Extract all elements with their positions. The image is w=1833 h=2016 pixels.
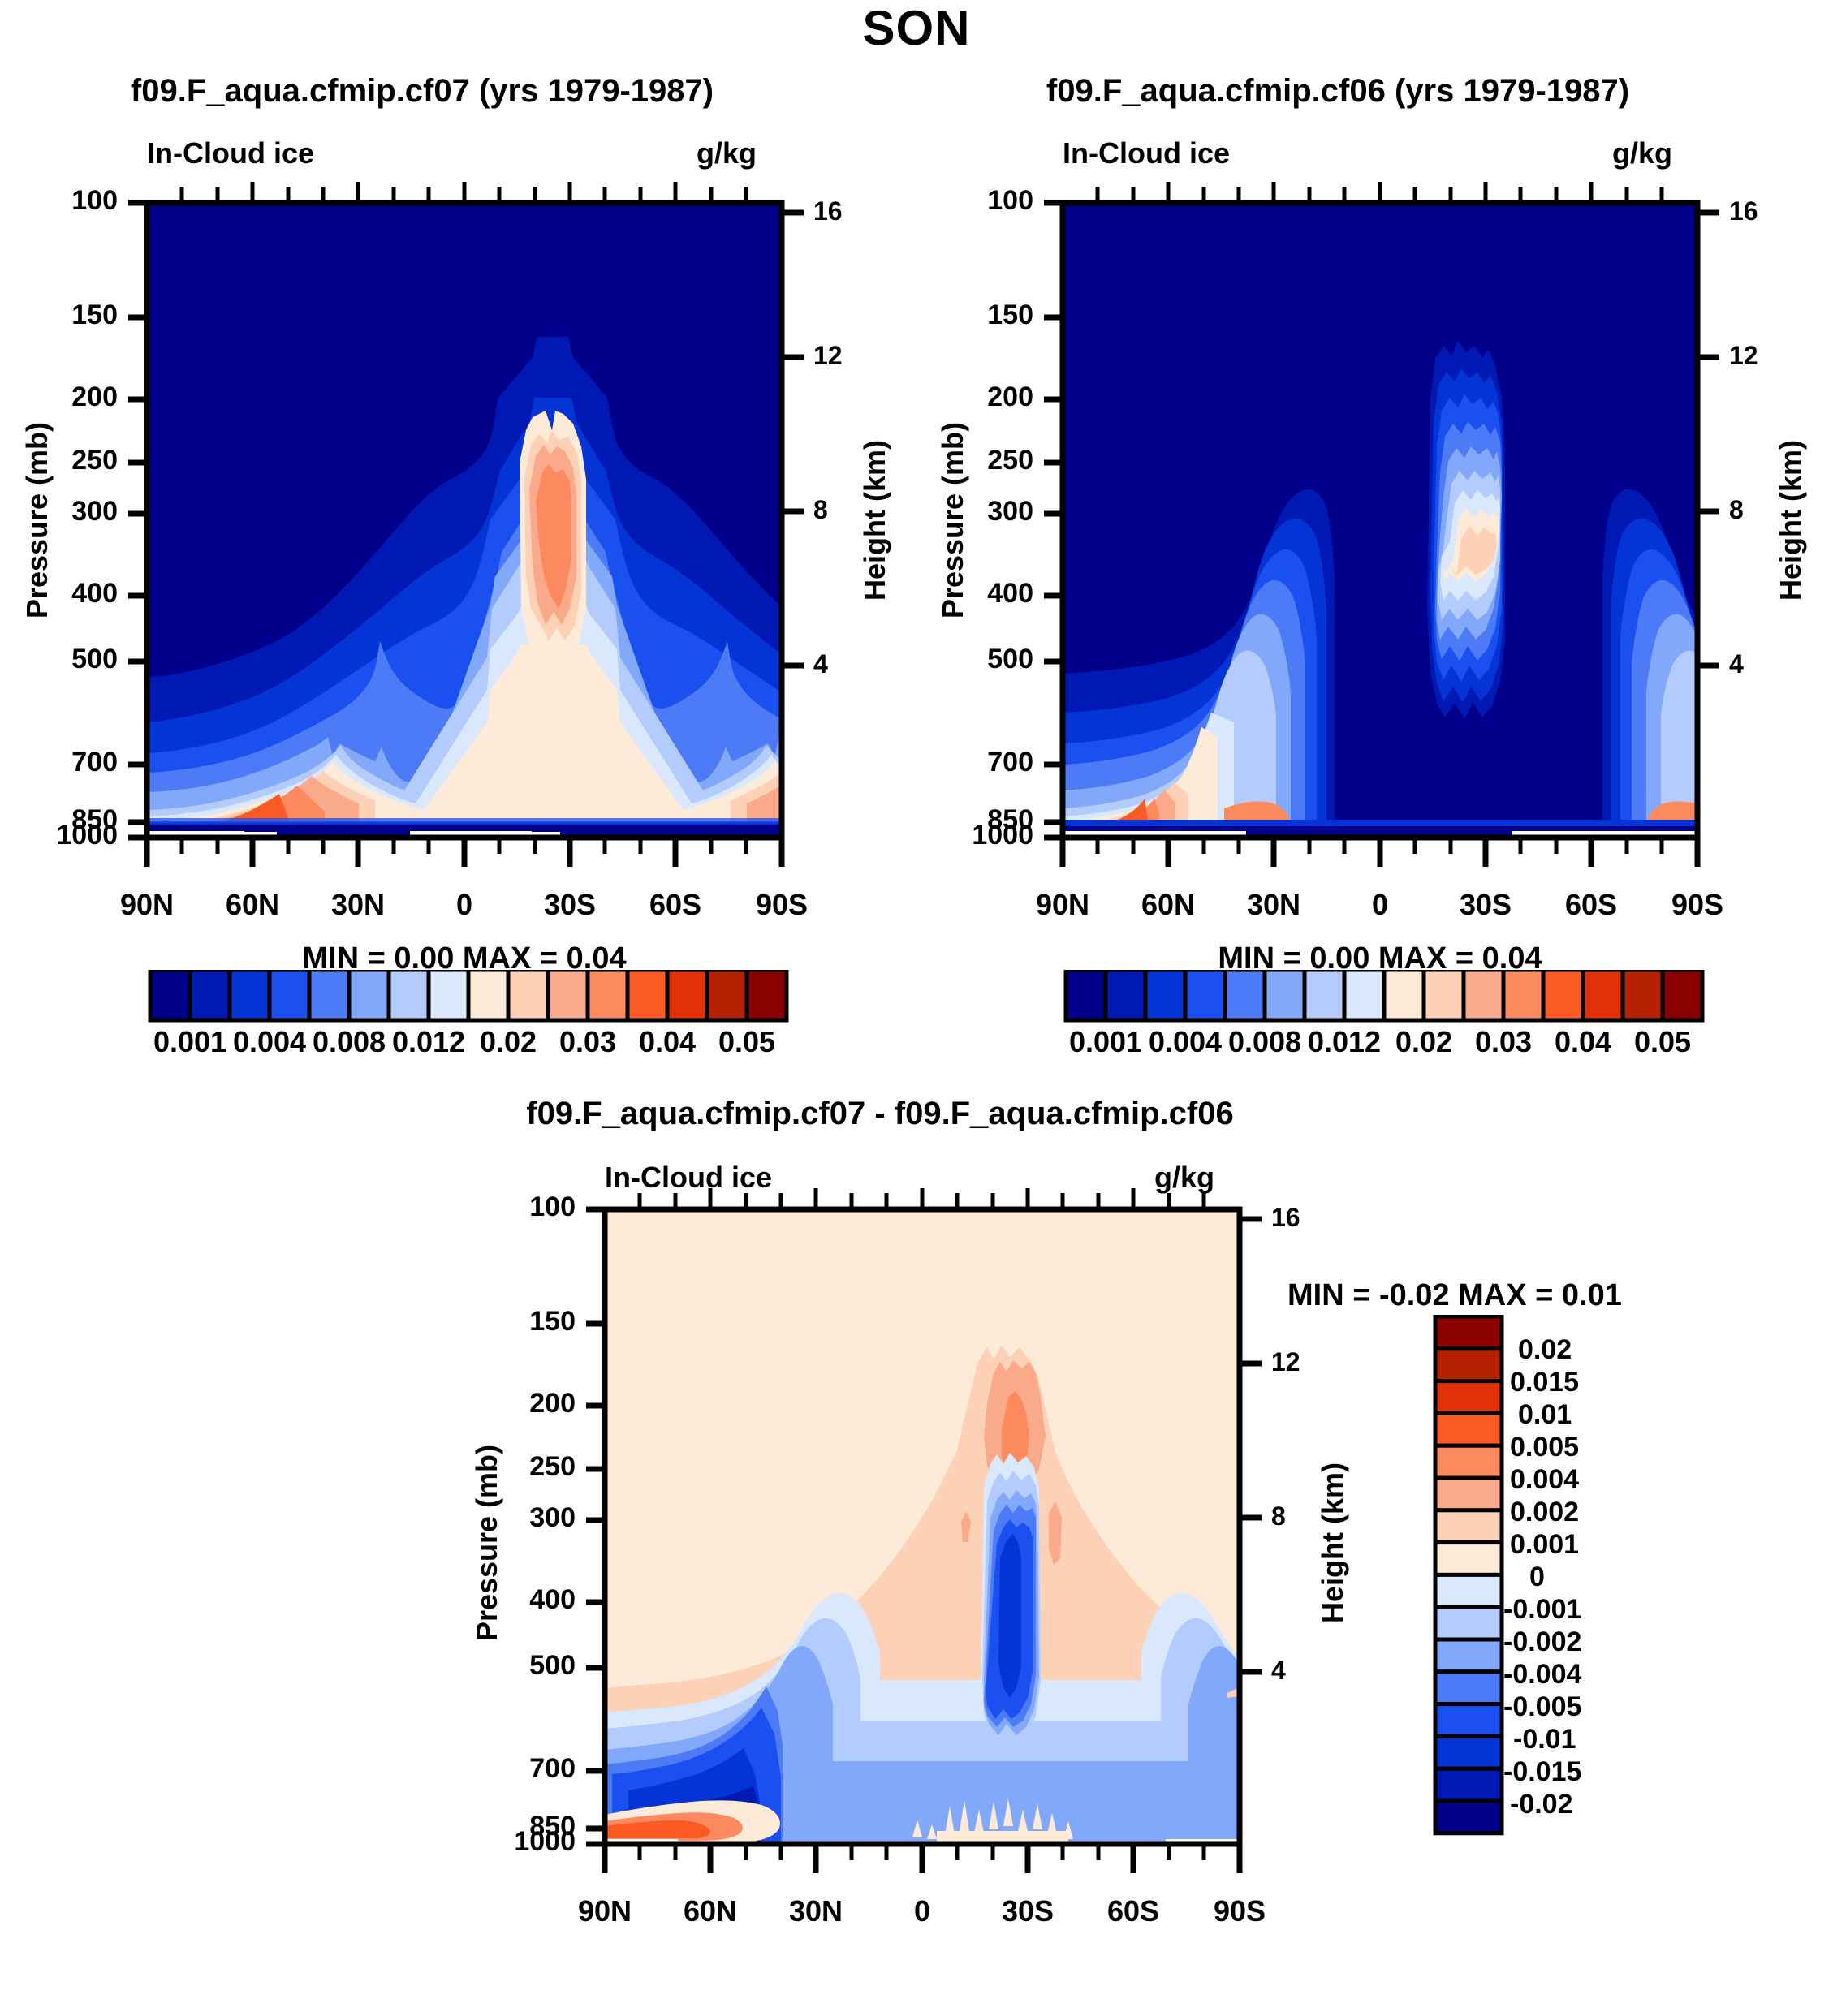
colorbar-cf06[interactable]: 0.001 0.004 0.008 0.012 0.02 0.03 0.04 0… (916, 970, 1833, 1067)
colorbar-cf07-label: 0.04 (628, 1025, 706, 1059)
colorbar-cf06-label: 0.04 (1544, 1025, 1622, 1059)
panel-cf07-xtick: 30N (301, 888, 415, 922)
colorbar-cf07-label: 0.03 (549, 1025, 627, 1059)
panel-cf07-ytick: 300 (24, 496, 118, 528)
panel-diff-xtick: 30N (759, 1894, 873, 1928)
panel-diff-ytick: 500 (482, 1650, 576, 1682)
colorbar-diff-label: -0.004 (1503, 1659, 1666, 1691)
panel-cf06-height-tick: 8 (1729, 495, 1744, 525)
colorbar-cf06-label: 0.001 (1065, 1025, 1146, 1059)
panel-cf07-ytick: 150 (24, 299, 118, 331)
panel-cf06: f09.F_aqua.cfmip.cf06 (yrs 1979-1987) In… (916, 0, 1833, 1063)
colorbar-cf07-swatches (150, 970, 787, 1020)
panel-cf06-ytick: 500 (940, 644, 1033, 675)
panel-diff-ytick: 100 (482, 1191, 576, 1223)
panel-cf06-xtick: 30S (1429, 888, 1542, 922)
colorbar-diff[interactable]: 0.02 0.015 0.01 0.005 0.004 0.002 0.001 … (1380, 1315, 1802, 1883)
colorbar-diff-label: -0.015 (1503, 1756, 1666, 1788)
colorbar-diff-swatches (1435, 1316, 1502, 1833)
panel-cf06-ytick: 1000 (924, 820, 1033, 851)
panel-diff-minmax: MIN = -0.02 MAX = 0.01 (1287, 1278, 1622, 1313)
panel-cf07-height-tick: 8 (813, 495, 828, 525)
colorbar-cf06-label: 0.004 (1145, 1025, 1226, 1059)
panel-diff-xtick: 90S (1183, 1894, 1296, 1928)
panel-cf07-xtick: 30S (513, 888, 627, 922)
colorbar-cf06-label: 0.02 (1385, 1025, 1463, 1059)
panel-cf06-height-tick: 16 (1729, 196, 1758, 226)
colorbar-cf06-label: 0.008 (1224, 1025, 1305, 1059)
panel-cf07-xtick: 90S (725, 888, 839, 922)
panel-diff-ytick: 300 (482, 1502, 576, 1534)
colorbar-diff-label: 0.004 (1510, 1464, 1664, 1496)
panel-cf07-ytick: 1000 (8, 820, 118, 851)
panel-cf07-height-tick: 4 (813, 649, 828, 679)
panel-cf06-height-tick: 4 (1729, 649, 1744, 679)
panel-cf07-xtick: 60N (196, 888, 309, 922)
panel-cf07-height-tick: 12 (813, 341, 843, 371)
panel-cf07-plot[interactable] (0, 154, 917, 1063)
panel-cf06-title: f09.F_aqua.cfmip.cf06 (yrs 1979-1987) (916, 73, 1760, 110)
panel-cf07-xtick: 90N (90, 888, 204, 922)
panel-cf06-xtick: 0 (1323, 888, 1437, 922)
colorbar-diff-label: 0.001 (1510, 1529, 1664, 1561)
panel-cf06-ytick: 400 (940, 578, 1033, 610)
colorbar-diff-label: -0.001 (1503, 1594, 1666, 1626)
panel-diff-title: f09.F_aqua.cfmip.cf07 - f09.F_aqua.cfmip… (458, 1096, 1302, 1132)
colorbar-cf07[interactable]: 0.001 0.004 0.008 0.012 0.02 0.03 0.04 0… (0, 970, 917, 1067)
panel-diff-ytick: 150 (482, 1306, 576, 1338)
panel-cf06-xtick: 60S (1534, 888, 1648, 922)
panel-cf06-xtick: 90S (1641, 888, 1754, 922)
panel-cf06-ytick: 200 (940, 381, 1033, 413)
panel-diff-height-tick: 16 (1271, 1203, 1300, 1233)
panel-cf07-ytick: 700 (24, 747, 118, 778)
panel-diff-ytick: 700 (482, 1753, 576, 1785)
colorbar-diff-label: 0.002 (1510, 1497, 1664, 1528)
colorbar-diff-label: -0.002 (1503, 1626, 1666, 1658)
panel-cf06-height-tick: 12 (1729, 341, 1758, 371)
panel-cf06-ytick: 250 (940, 445, 1033, 476)
colorbar-diff-label: -0.01 (1513, 1724, 1667, 1755)
panel-diff-ytick: 400 (482, 1584, 576, 1616)
panel-cf06-plot[interactable] (916, 154, 1833, 1063)
colorbar-cf07-label: 0.001 (149, 1025, 231, 1059)
panel-diff: f09.F_aqua.cfmip.cf07 - f09.F_aqua.cfmip… (458, 1079, 1375, 1935)
colorbar-cf07-label: 0.05 (708, 1025, 786, 1059)
panel-diff-xtick: 0 (865, 1894, 979, 1928)
panel-cf06-ytick: 300 (940, 496, 1033, 528)
panel-diff-ytick: 250 (482, 1451, 576, 1483)
panel-cf07-ytick: 100 (24, 185, 118, 217)
colorbar-diff-label: 0.005 (1510, 1432, 1664, 1463)
panel-diff-xtick: 90N (548, 1894, 662, 1928)
panel-cf06-xtick: 60N (1111, 888, 1225, 922)
colorbar-cf07-label: 0.008 (308, 1025, 390, 1059)
panel-cf06-ytick: 700 (940, 747, 1033, 778)
panel-diff-ytick: 1000 (466, 1826, 576, 1858)
panel-cf07-ytick: 200 (24, 381, 118, 413)
panel-cf06-xtick: 30N (1217, 888, 1331, 922)
colorbar-diff-label: -0.02 (1510, 1789, 1664, 1820)
panel-cf06-ytick: 100 (940, 185, 1033, 217)
panel-cf07-xtick: 60S (619, 888, 732, 922)
colorbar-cf06-label: 0.012 (1304, 1025, 1385, 1059)
panel-cf07: f09.F_aqua.cfmip.cf07 (yrs 1979-1987) In… (0, 0, 917, 1063)
panel-diff-xtick: 60S (1076, 1894, 1190, 1928)
colorbar-diff-label: 0.01 (1518, 1399, 1664, 1431)
colorbar-cf07-label: 0.02 (469, 1025, 547, 1059)
panel-diff-xtick: 30S (971, 1894, 1085, 1928)
panel-cf07-ytick: 500 (24, 644, 118, 675)
colorbar-cf06-label: 0.03 (1464, 1025, 1542, 1059)
colorbar-diff-label: 0 (1529, 1562, 1659, 1593)
panel-diff-height-tick: 4 (1271, 1656, 1286, 1686)
panel-diff-xtick: 60N (653, 1894, 767, 1928)
colorbar-diff-label: 0.02 (1518, 1334, 1664, 1366)
panel-cf07-ytick: 400 (24, 578, 118, 610)
panel-cf06-ytick: 150 (940, 299, 1033, 331)
panel-diff-height-tick: 12 (1271, 1347, 1300, 1377)
panel-diff-ytick: 200 (482, 1388, 576, 1419)
panel-cf07-xtick: 0 (408, 888, 521, 922)
panel-cf06-xtick: 90N (1006, 888, 1119, 922)
panel-cf07-title: f09.F_aqua.cfmip.cf07 (yrs 1979-1987) (0, 73, 844, 110)
colorbar-cf07-label: 0.012 (388, 1025, 469, 1059)
panel-diff-plot[interactable] (458, 1161, 1375, 2016)
colorbar-cf06-label: 0.05 (1624, 1025, 1701, 1059)
colorbar-diff-label: -0.005 (1503, 1691, 1666, 1723)
panel-cf07-ytick: 250 (24, 445, 118, 476)
panel-diff-height-tick: 8 (1271, 1501, 1286, 1531)
colorbar-cf07-label: 0.004 (229, 1025, 310, 1059)
colorbar-cf06-swatches (1066, 970, 1702, 1020)
colorbar-diff-label: 0.015 (1510, 1367, 1664, 1398)
panel-cf07-height-tick: 16 (813, 196, 843, 226)
